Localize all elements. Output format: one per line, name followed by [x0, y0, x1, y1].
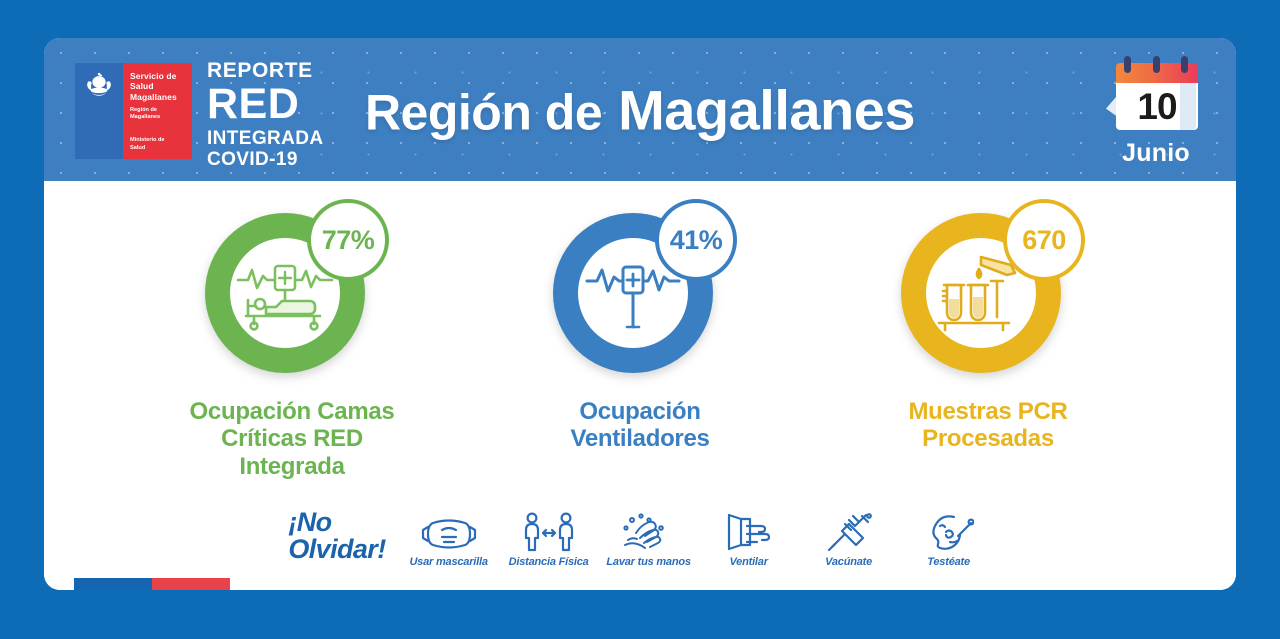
prevention-label-mascarilla: Usar mascarilla — [406, 556, 492, 568]
prevention-label-distancia: Distancia Física — [506, 556, 592, 568]
prevention-item-testeate: Testéate — [906, 508, 992, 568]
no-olvidar-heading: ¡No Olvidar! — [288, 509, 385, 568]
report-word-covid19: COVID-19 — [207, 150, 324, 169]
report-card: Servicio de Salud Magallanes Región de M… — [44, 38, 1236, 590]
metric-muestras-pcr: 670 Muestras PCR Procesadas — [863, 203, 1113, 480]
metric-label-camas: Ocupación Camas Críticas RED Integrada — [167, 398, 417, 480]
title-region: Región de — [365, 84, 602, 140]
accent-bar-blue — [74, 578, 152, 590]
prevention-label-vacunate: Vacúnate — [806, 556, 892, 568]
prevention-item-distancia: Distancia Física — [506, 508, 592, 568]
accent-bar-red — [152, 578, 230, 590]
page-title: Región deMagallanes — [44, 77, 1236, 142]
prevention-item-vacunate: Vacúnate — [806, 508, 892, 568]
face-mask-icon — [406, 508, 492, 552]
metric-label-ventiladores: Ocupación Ventiladores — [515, 398, 765, 453]
ventilate-window-icon — [706, 508, 792, 552]
prevention-strip: ¡No Olvidar! Usar mascarilla — [44, 508, 1236, 568]
metric-ventiladores: 41% Ocupación Ventiladores — [515, 203, 765, 480]
metric-value-pcr: 670 — [1003, 199, 1085, 281]
calendar-rings — [1124, 56, 1188, 71]
syringe-icon — [806, 508, 892, 552]
prevention-label-ventilar: Ventilar — [706, 556, 792, 568]
calendar-icon: 10 — [1106, 56, 1206, 138]
date-calendar: 10 Junio — [1100, 56, 1212, 168]
wash-hands-icon — [606, 508, 692, 552]
physical-distance-icon — [506, 508, 592, 552]
prevention-item-mascarilla: Usar mascarilla — [406, 508, 492, 568]
header-band: Servicio de Salud Magallanes Región de M… — [44, 38, 1236, 181]
metric-value-ventiladores: 41% — [655, 199, 737, 281]
metric-value-camas: 77% — [307, 199, 389, 281]
prevention-label-testeate: Testéate — [906, 556, 992, 568]
calendar-day: 10 — [1116, 83, 1198, 130]
prevention-label-lavar-manos: Lavar tus manos — [606, 556, 692, 568]
title-magallanes: Magallanes — [618, 78, 915, 141]
calendar-month: Junio — [1100, 139, 1212, 168]
prevention-item-ventilar: Ventilar — [706, 508, 792, 568]
no-olvidar-line2: Olvidar! — [288, 536, 385, 564]
body-area: 77% Ocupación Camas Críticas RED Integra… — [44, 181, 1236, 590]
metrics-row: 77% Ocupación Camas Críticas RED Integra… — [44, 181, 1236, 480]
metric-camas-criticas: 77% Ocupación Camas Críticas RED Integra… — [167, 203, 417, 480]
prevention-item-lavar-manos: Lavar tus manos — [606, 508, 692, 568]
no-olvidar-line1: ¡No — [288, 509, 385, 537]
nasal-swab-test-icon — [906, 508, 992, 552]
metric-label-pcr: Muestras PCR Procesadas — [863, 398, 1113, 453]
